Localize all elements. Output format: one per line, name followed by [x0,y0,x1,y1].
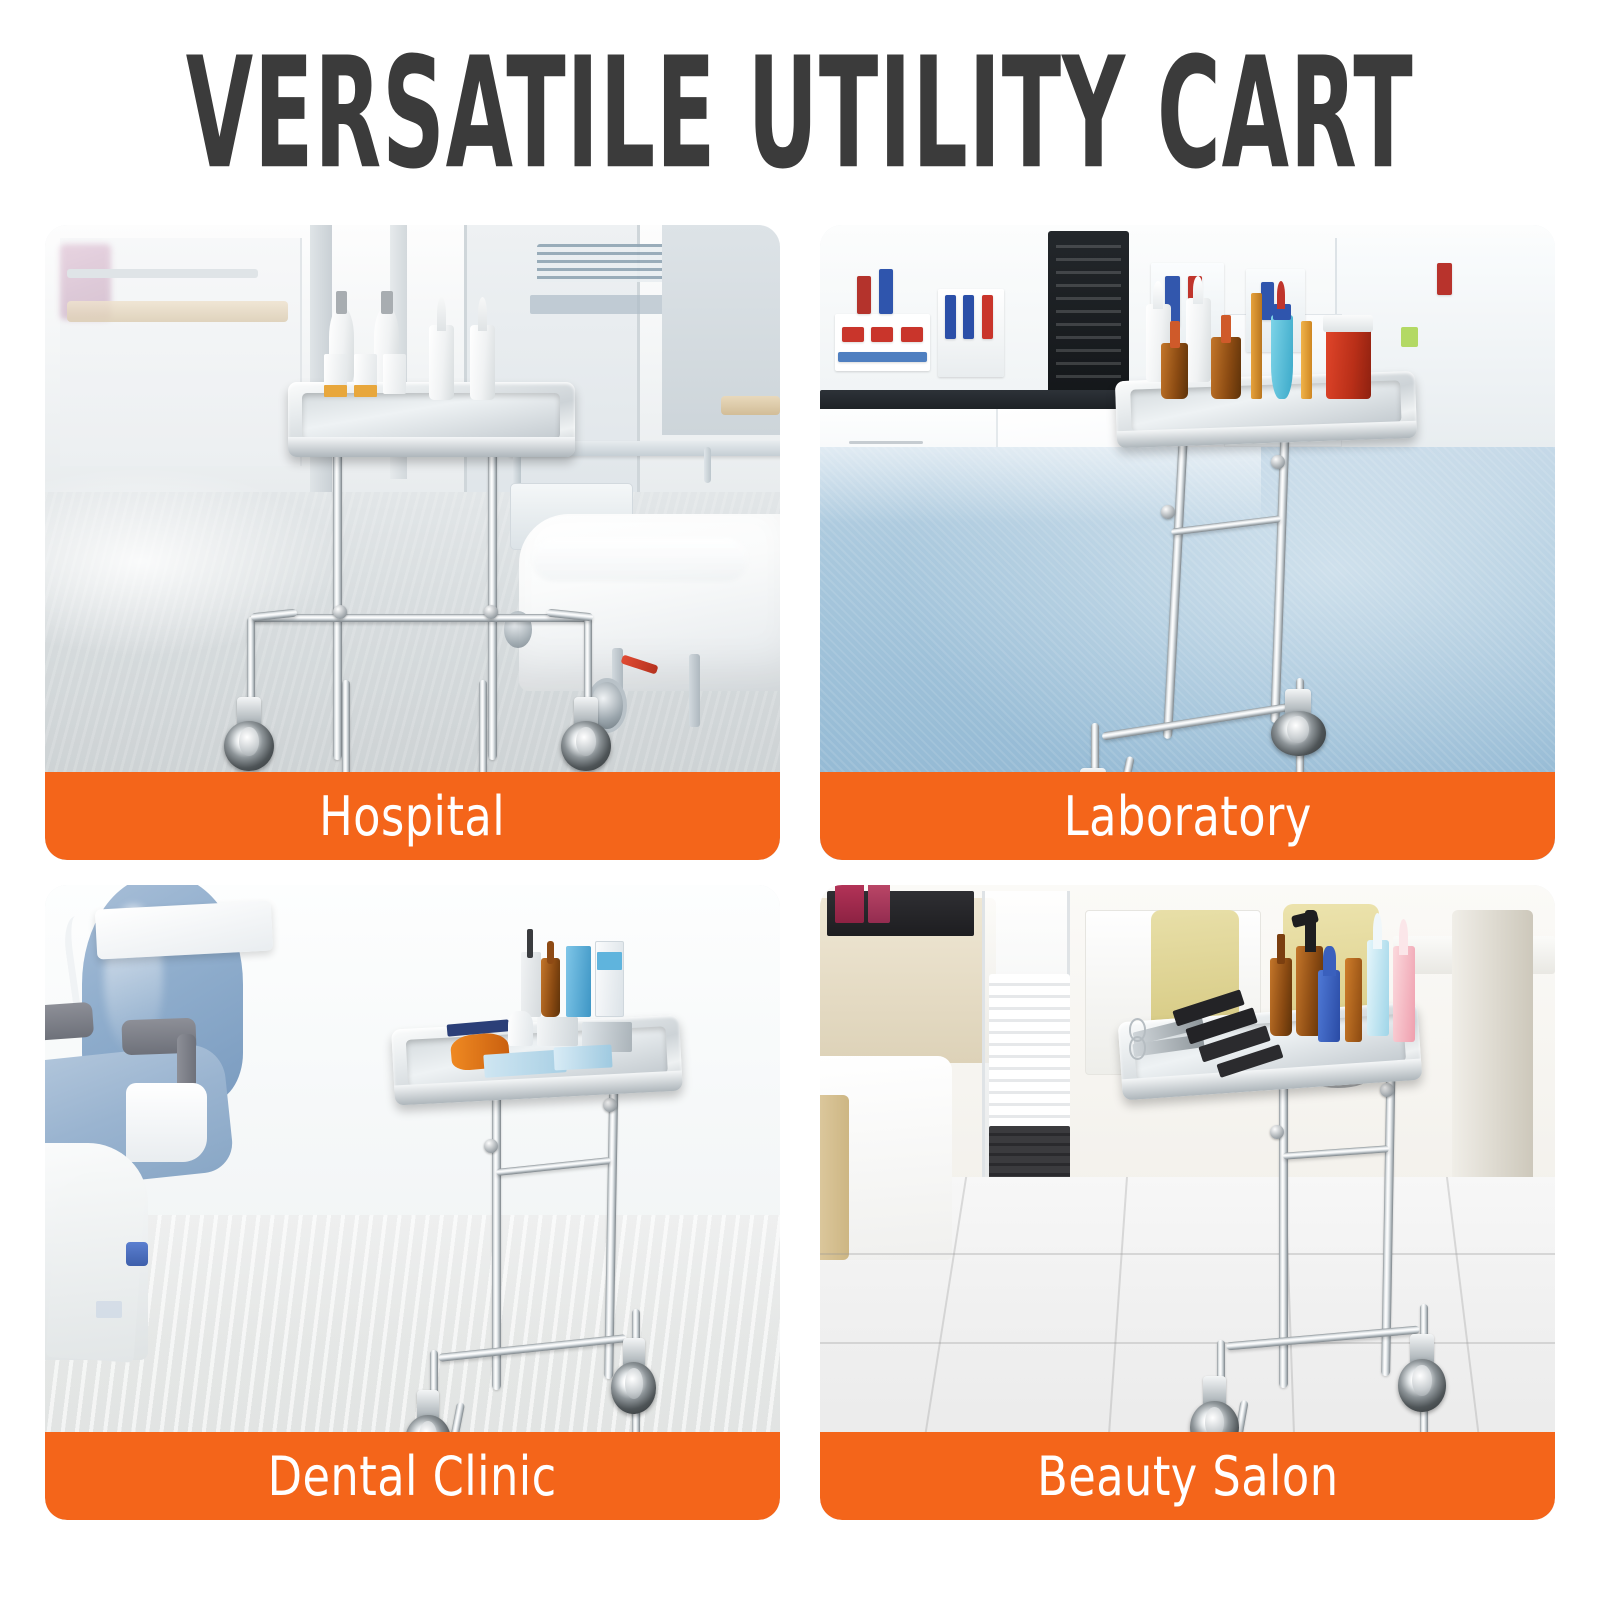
utility-cart-dental [368,923,780,1507]
utility-cart-hospital [192,257,648,829]
panel-label-bar: Dental Clinic [45,1432,780,1520]
panel-label-laboratory: Laboratory [1063,785,1311,848]
panel-label-dental-clinic: Dental Clinic [268,1445,557,1508]
caster-wheel [1398,1334,1447,1412]
laboratory-photo [820,225,1555,860]
page-title-area: VERSATILE UTILITY CART [0,0,1600,225]
caster-wheel [224,697,274,771]
dental-clinic-scene [45,885,780,1520]
panel-label-bar: Hospital [45,772,780,860]
scenario-panel-laboratory[interactable]: Laboratory [820,225,1555,860]
scenario-panel-hospital[interactable]: Hospital [45,225,780,860]
beauty-salon-scene [820,885,1555,1520]
hospital-photo [45,225,780,860]
scenario-panel-dental-clinic[interactable]: Dental Clinic [45,885,780,1520]
scenario-panel-beauty-salon[interactable]: Beauty Salon [820,885,1555,1520]
scenario-grid: Hospital [45,225,1555,1520]
panel-label-beauty-salon: Beauty Salon [1037,1445,1338,1508]
caster-wheel [561,697,611,771]
page-title: VERSATILE UTILITY CART [186,36,1414,189]
utility-cart-salon [1085,910,1526,1507]
panel-label-bar: Laboratory [820,772,1555,860]
caster-wheel [611,1338,656,1414]
utility-cart-laboratory [1026,276,1526,835]
panel-label-hospital: Hospital [319,785,505,848]
caster-wheel [1271,689,1326,756]
cart-tray [1115,371,1417,448]
dental-chair [45,885,390,1380]
dental-clinic-photo [45,885,780,1520]
panel-label-bar: Beauty Salon [820,1432,1555,1520]
hospital-scene [45,225,780,860]
laboratory-scene [820,225,1555,860]
beauty-salon-photo [820,885,1555,1520]
product-feature-image: VERSATILE UTILITY CART [0,0,1600,1600]
